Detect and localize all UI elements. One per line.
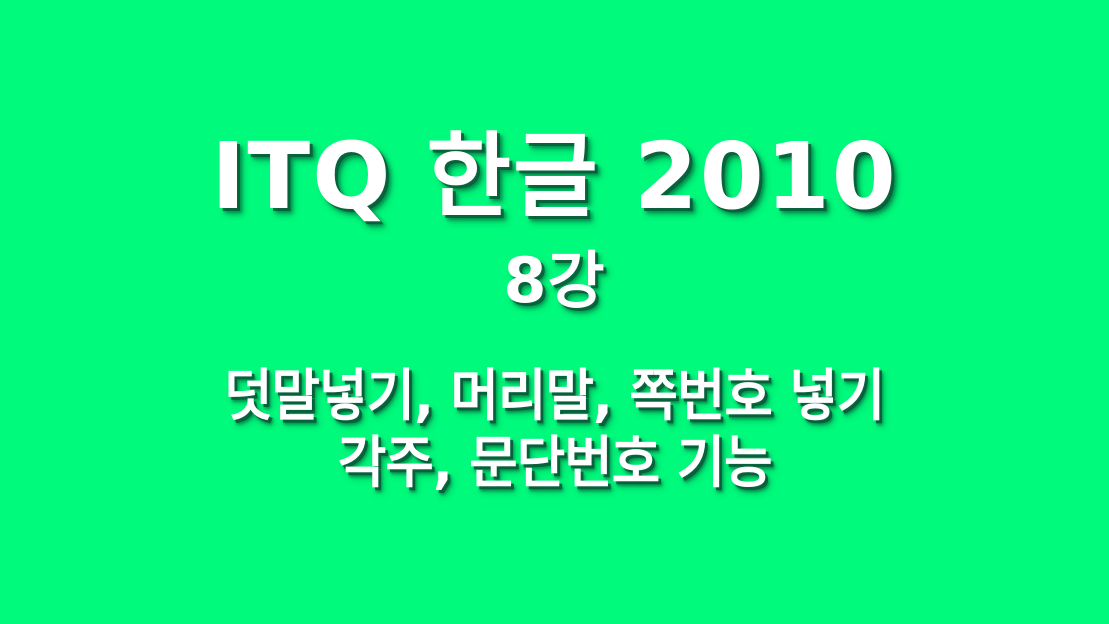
lesson-number: 8강 [503, 248, 605, 313]
lecture-title-card: ITQ 한글 2010 8강 덧말넣기, 머리말, 쪽번호 넣기 각주, 문단번… [0, 0, 1109, 624]
topic-list: 덧말넣기, 머리말, 쪽번호 넣기 각주, 문단번호 기능 [203, 363, 905, 499]
topic-line-2: 각주, 문단번호 기능 [338, 430, 772, 498]
title-text-stack: ITQ 한글 2010 8강 덧말넣기, 머리말, 쪽번호 넣기 각주, 문단번… [0, 0, 1109, 624]
page-title: ITQ 한글 2010 [211, 128, 898, 226]
topic-line-1: 덧말넣기, 머리말, 쪽번호 넣기 [224, 363, 884, 431]
